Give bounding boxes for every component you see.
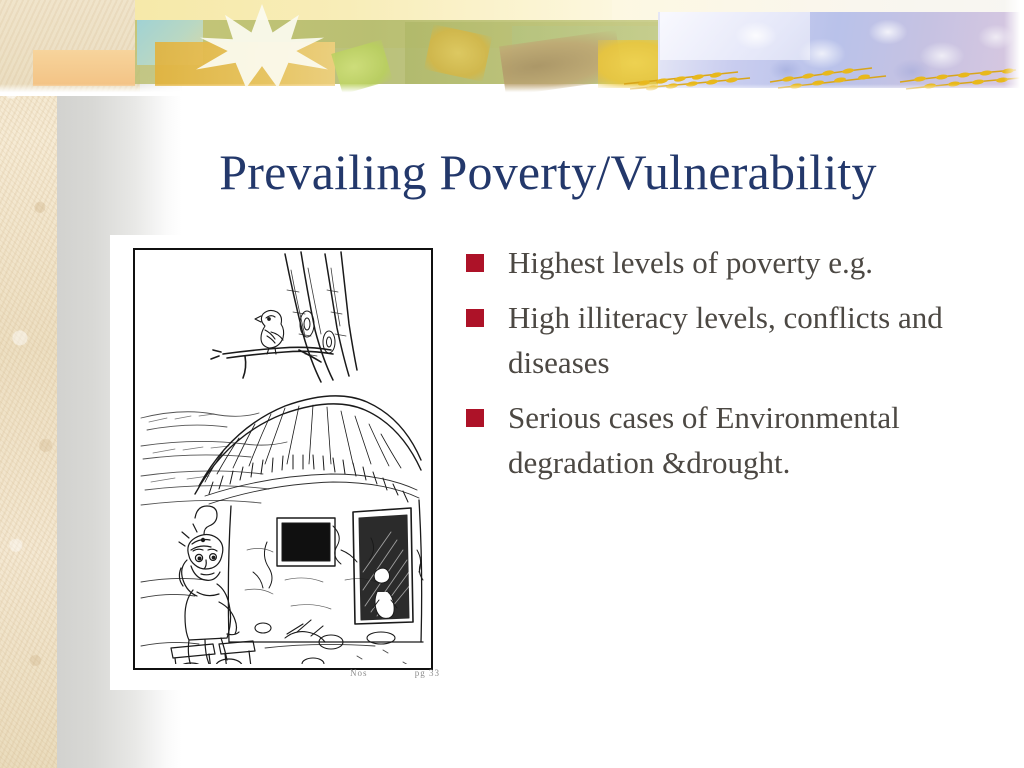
list-item: Highest levels of poverty e.g. bbox=[466, 240, 986, 285]
list-item: High illiteracy levels, conflicts and di… bbox=[466, 295, 986, 385]
hut-and-man-drawing bbox=[135, 250, 427, 664]
square-bullet-icon bbox=[466, 254, 484, 272]
decorative-header-banner bbox=[0, 0, 1024, 96]
banner-peach-block bbox=[33, 50, 135, 86]
caption-right-mark: pg 33 bbox=[415, 668, 440, 678]
banner-bottom-fade bbox=[0, 84, 1024, 96]
illustration-caption: Nos pg 33 bbox=[350, 668, 440, 678]
page-title: Prevailing Poverty/Vulnerability bbox=[118, 142, 978, 202]
presentation-slide: Prevailing Poverty/Vulnerability bbox=[0, 0, 1024, 768]
bullet-list: Highest levels of poverty e.g. High illi… bbox=[466, 240, 986, 495]
left-parchment-edge bbox=[0, 0, 57, 768]
bullet-text: High illiteracy levels, conflicts and di… bbox=[508, 295, 986, 385]
square-bullet-icon bbox=[466, 409, 484, 427]
banner-right-fade bbox=[1004, 0, 1024, 96]
square-bullet-icon bbox=[466, 309, 484, 327]
bullet-text: Highest levels of poverty e.g. bbox=[508, 240, 986, 285]
bullet-text: Serious cases of Environmental degradati… bbox=[508, 395, 986, 485]
illustration-frame bbox=[133, 248, 433, 670]
list-item: Serious cases of Environmental degradati… bbox=[466, 395, 986, 485]
caption-left-mark: Nos bbox=[350, 668, 368, 678]
